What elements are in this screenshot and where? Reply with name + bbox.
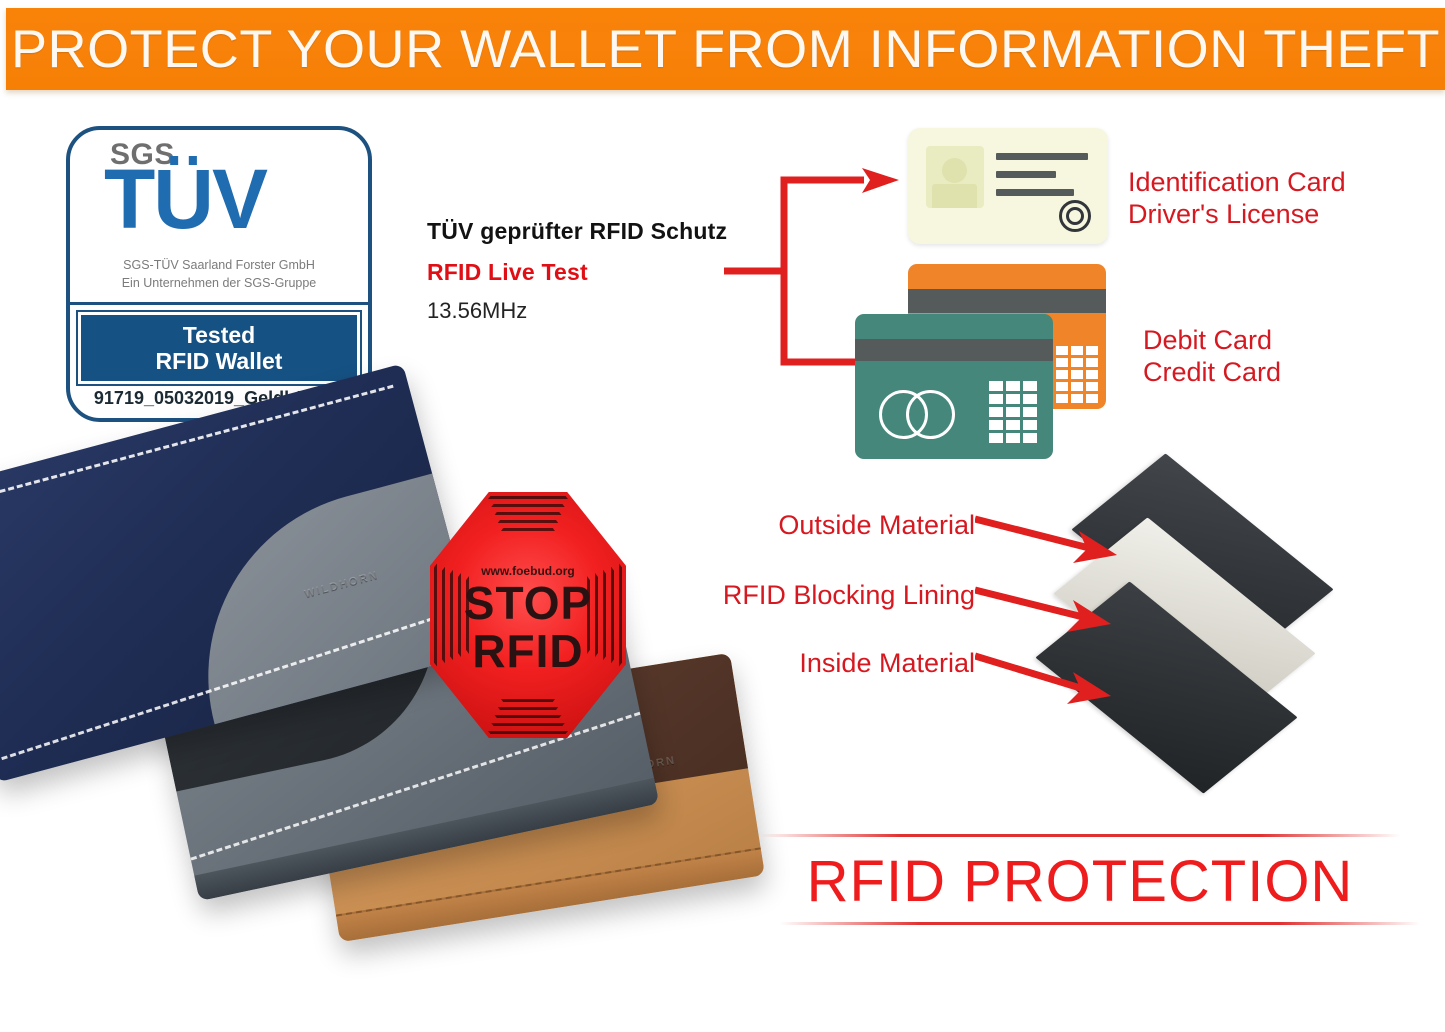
id-portrait-head-icon: [942, 158, 967, 183]
tuv-certificate-badge: SGS TÜV SGS-TÜV Saarland Forster GmbH Ei…: [66, 126, 372, 422]
id-text-line: [996, 153, 1088, 160]
footer-rule-top: [760, 834, 1400, 837]
card-chip-grid-icon: [1056, 346, 1098, 403]
header-banner: PROTECT YOUR WALLET FROM INFORMATION THE…: [6, 8, 1445, 90]
certificate-banner: Tested RFID Wallet: [78, 312, 360, 384]
material-arrow-3-icon: [975, 648, 1155, 768]
identification-card-label: Identification Card Driver's License: [1128, 167, 1346, 230]
inside-material-label: Inside Material: [799, 648, 975, 679]
magnetic-stripe: [855, 339, 1053, 361]
certificate-product-label: RFID Wallet: [156, 348, 283, 374]
debit-card-graphic: [855, 314, 1053, 459]
certificate-divider: [70, 302, 368, 305]
credit-card-label: Credit Card: [1143, 357, 1281, 389]
id-text-line: [996, 189, 1074, 196]
tuv-wordmark: TÜV: [104, 160, 266, 240]
stop-rfid-word-rfid: RFID: [430, 628, 626, 674]
certificate-tested-label: Tested: [183, 322, 255, 348]
footer-headline: RFID PROTECTION: [760, 848, 1400, 915]
magnetic-stripe: [908, 289, 1106, 313]
card-network-circle-icon: [906, 390, 955, 439]
debit-card-label: Debit Card: [1143, 325, 1281, 357]
rfid-live-test-label: RFID Live Test: [427, 259, 727, 286]
rfid-protection-claim: TÜV geprüfter RFID Schutz: [427, 218, 727, 245]
rfid-frequency: 13.56MHz: [427, 298, 727, 324]
page-title: PROTECT YOUR WALLET FROM INFORMATION THE…: [11, 19, 1440, 80]
stop-rfid-url: www.foebud.org: [430, 564, 626, 578]
id-card-label-line-1: Identification Card: [1128, 167, 1346, 199]
stop-rfid-badge: www.foebud.org STOP RFID: [430, 492, 626, 738]
id-portrait-body-icon: [932, 184, 977, 208]
cards-illustration: [855, 128, 1135, 448]
outside-material-label: Outside Material: [778, 510, 975, 541]
rfid-test-info: TÜV geprüfter RFID Schutz RFID Live Test…: [427, 218, 727, 324]
rfid-protection-footer: RFID PROTECTION: [760, 822, 1440, 932]
infographic-canvas: PROTECT YOUR WALLET FROM INFORMATION THE…: [0, 0, 1445, 1032]
identification-card-graphic: [908, 128, 1108, 244]
card-chip-grid-icon: [989, 381, 1037, 443]
wallet-product-photo: WILDHORN WILDHORN WILDHORN: [0, 415, 780, 1015]
payment-card-label: Debit Card Credit Card: [1143, 325, 1281, 388]
footer-rule-bottom: [780, 922, 1420, 925]
certificate-company-line-1: SGS-TÜV Saarland Forster GmbH: [70, 258, 368, 272]
certificate-logo-area: SGS TÜV SGS-TÜV Saarland Forster GmbH Ei…: [70, 130, 368, 306]
stop-rfid-word-stop: STOP: [430, 580, 626, 626]
id-card-label-line-2: Driver's License: [1128, 199, 1346, 231]
id-text-line: [996, 171, 1056, 178]
certificate-company-line-2: Ein Unternehmen der SGS-Gruppe: [70, 276, 368, 290]
rfid-chip-icon: [1059, 200, 1091, 232]
